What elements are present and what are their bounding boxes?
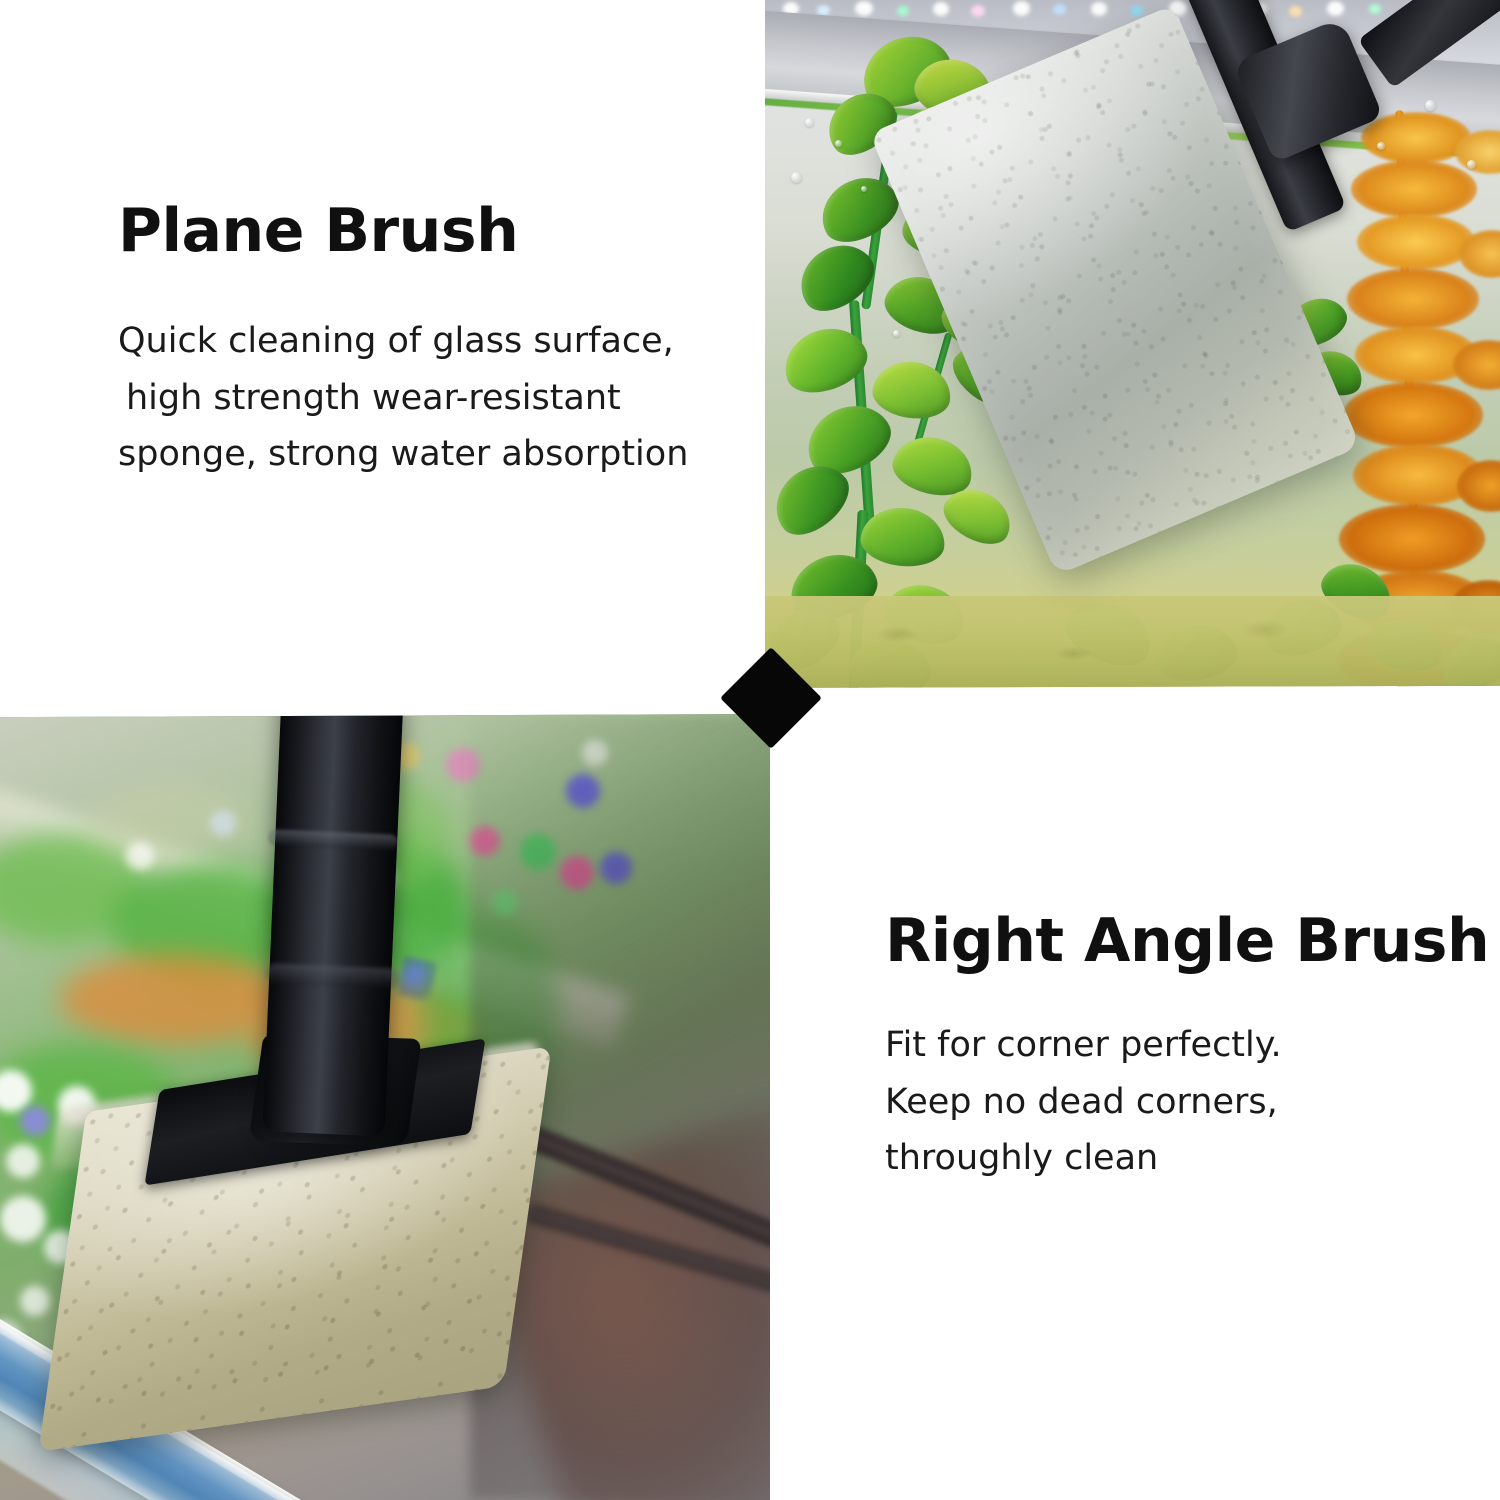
photo-right-angle-brush	[0, 714, 770, 1500]
aquarium-gravel	[765, 596, 1500, 692]
plane-brush-line-2: high strength wear-resistant	[118, 370, 738, 427]
right-angle-brush-description: Fit for corner perfectly. Keep no dead c…	[885, 1017, 1455, 1187]
right-angle-brush-line-3: throughly clean	[885, 1130, 1455, 1187]
panel-right-angle-brush: Right Angle Brush Fit for corner perfect…	[885, 910, 1455, 1187]
brush-handle-shaft	[262, 714, 403, 1136]
right-angle-brush-line-2: Keep no dead corners,	[885, 1074, 1455, 1131]
plane-brush-line-3: sponge, strong water absorption	[118, 426, 738, 483]
panel-plane-brush: Plane Brush Quick cleaning of glass surf…	[118, 200, 738, 483]
right-angle-brush-title: Right Angle Brush	[885, 910, 1455, 973]
plane-brush-title: Plane Brush	[118, 200, 738, 263]
right-angle-brush-line-1: Fit for corner perfectly.	[885, 1017, 1455, 1074]
product-infographic-page: Plane Brush Quick cleaning of glass surf…	[0, 0, 1500, 1500]
photo-plane-brush	[765, 0, 1500, 692]
plane-brush-line-1: Quick cleaning of glass surface,	[118, 313, 738, 370]
plane-brush-description: Quick cleaning of glass surface, high st…	[118, 313, 738, 483]
